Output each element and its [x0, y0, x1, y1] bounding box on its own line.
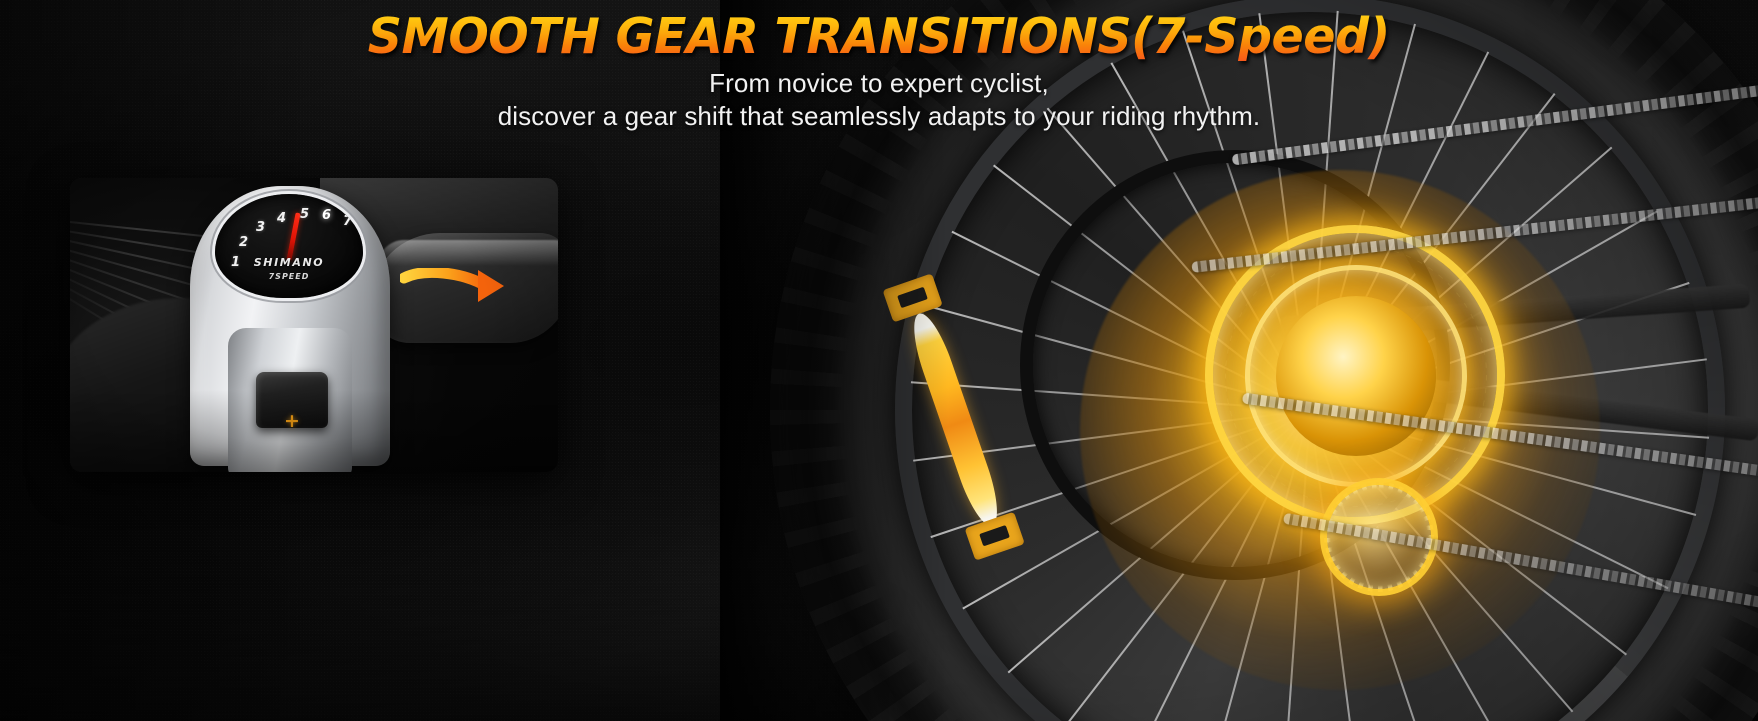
gear-number-7: 7: [343, 215, 352, 228]
gear-number-4: 4: [277, 212, 286, 225]
banner-stage: SHIMANO 7SPEED 1234567 + SMOOTH GEA: [0, 0, 1758, 721]
shifter-photo: SHIMANO 7SPEED 1234567 +: [70, 178, 558, 472]
wheel-hub-icon: [1276, 296, 1436, 456]
speed-label: 7SPEED: [215, 272, 363, 281]
brake-lever-highlight: [378, 240, 558, 266]
gear-needle-icon: [287, 212, 301, 260]
wheel-photo: [720, 0, 1758, 721]
gear-number-5: 5: [300, 208, 309, 221]
gear-number-1: 1: [231, 256, 240, 269]
shift-direction-arrow-icon: [400, 268, 520, 314]
plus-symbol: +: [264, 410, 320, 432]
gear-number-6: 6: [322, 209, 331, 222]
gear-number-3: 3: [256, 221, 265, 234]
gear-number-2: 2: [239, 236, 248, 249]
